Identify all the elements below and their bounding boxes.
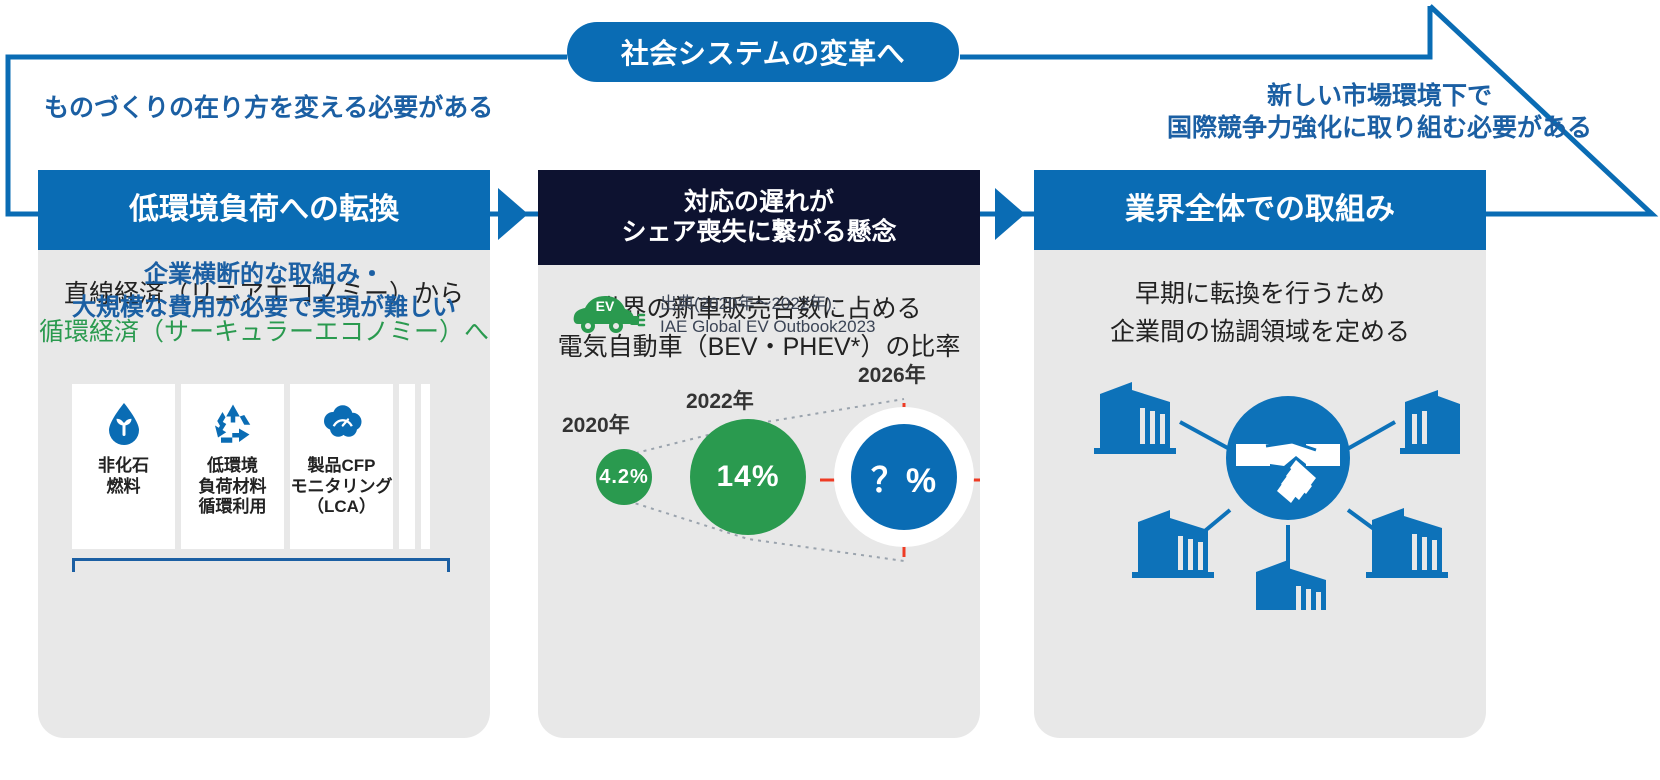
ev-car-icon: EV [572,294,646,336]
panel-low-environmental-load: 低環境負荷への転換 直線経済（リニアエコノミー）から 循環経済（サーキュラーエコ… [38,170,490,738]
chevron-right-icon-1 [498,188,528,240]
card-group-bracket [72,558,450,572]
panel-right-text: 早期に転換を行うため 企業間の協調領域を定める [1034,250,1486,351]
bubble-year-label-2020: 2020年 [562,409,630,439]
building-icon-4 [1366,508,1448,578]
card-product-cfp[interactable]: 製品CFP モニタリング （LCA） [290,384,393,549]
bubble-year-label-2022: 2022年 [686,385,754,415]
top-banner-pill: 社会システムの変革へ [567,22,959,82]
bubble-value-label-2022: 14% [716,460,779,494]
measure-card-list: 非化石 燃料 低環境 負荷材料 循環利用 [72,384,430,549]
caption-right: 新しい市場環境下で 国際競争力強化に取り組む必要がある [1167,80,1592,144]
panel-share-loss-concern: 対応の遅れが シェア喪失に繋がる懸念 世界の新車販売台数に占める 電気自動車（B… [538,170,980,738]
diagram-canvas: 社会システムの変革へ ものづくりの在り方を変える必要がある 新しい市場環境下で … [0,0,1660,780]
panel-right-header: 業界全体での取組み [1034,170,1486,250]
panel-mid-header: 対応の遅れが シェア喪失に繋がる懸念 [538,170,980,265]
svg-text:EV: EV [596,298,615,314]
bubble-value-label-2020: 4.2% [599,466,649,489]
bubble-value-label-2026: ？% [871,453,937,502]
card-non-fossil-fuel[interactable]: 非化石 燃料 [72,384,175,549]
panel-mid-body: 世界の新車販売台数に占める 電気自動車（BEV・PHEV*）の比率 2020年 [538,265,980,366]
top-banner-label: 社会システムの変革へ [621,32,905,72]
bubble-value-2026: ？% [851,424,957,530]
card-label-recycled-materials: 低環境 負荷材料 循環利用 [199,456,267,518]
source-citation-row: EV 出典(2020年〜2022年): IAE Global EV Outboo… [572,292,875,338]
panel-right-body: 早期に転換を行うため 企業間の協調領域を定める [1034,250,1486,351]
bubble-value-2022: 14% [690,419,806,535]
panel-right-line-2: 企業間の協調領域を定める [1034,314,1486,352]
bubble-year-label-2026: 2026年 [858,359,926,389]
recycle-icon [209,400,257,448]
ev-share-bubble-chart: 2020年 2022年 2026年 4.2% 14% ？% [538,381,980,581]
card-placeholder-1 [399,384,415,549]
bubble-value-2020: 4.2% [596,449,652,505]
card-recycled-materials[interactable]: 低環境 負荷材料 循環利用 [181,384,284,549]
building-icon-2 [1400,390,1460,454]
chevron-right-icon-2 [995,188,1025,240]
building-icon-1 [1094,382,1176,454]
panel-left-footer-line-1: 企業横断的な取組み・ [38,258,490,292]
panel-left-header: 低環境負荷への転換 [38,170,490,250]
building-icon-5 [1256,560,1326,610]
card-label-product-cfp: 製品CFP モニタリング （LCA） [291,456,393,518]
panel-industry-wide-effort: 業界全体での取組み 早期に転換を行うため 企業間の協調領域を定める [1034,170,1486,738]
card-label-non-fossil-fuel: 非化石 燃料 [98,456,149,497]
panel-left-body: 直線経済（リニアエコノミー）から 循環経済（サーキュラーエコノミー）へ 非化石 … [38,250,490,351]
panel-left-footer: 企業横断的な取組み・ 大規模な費用が必要で実現が難しい [38,258,490,325]
panel-left-footer-line-2: 大規模な費用が必要で実現が難しい [38,291,490,325]
handshake-network-icon [1060,360,1460,610]
building-icon-3 [1132,510,1214,578]
source-citation-text: 出典(2020年〜2022年): IAE Global EV Outbook20… [660,292,875,338]
card-placeholder-2 [421,384,430,549]
caption-left: ものづくりの在り方を変える必要がある [44,92,493,124]
water-drop-sprout-icon [100,400,148,448]
panel-right-line-1: 早期に転換を行うため [1034,276,1486,314]
cloud-gauge-icon [318,400,366,448]
